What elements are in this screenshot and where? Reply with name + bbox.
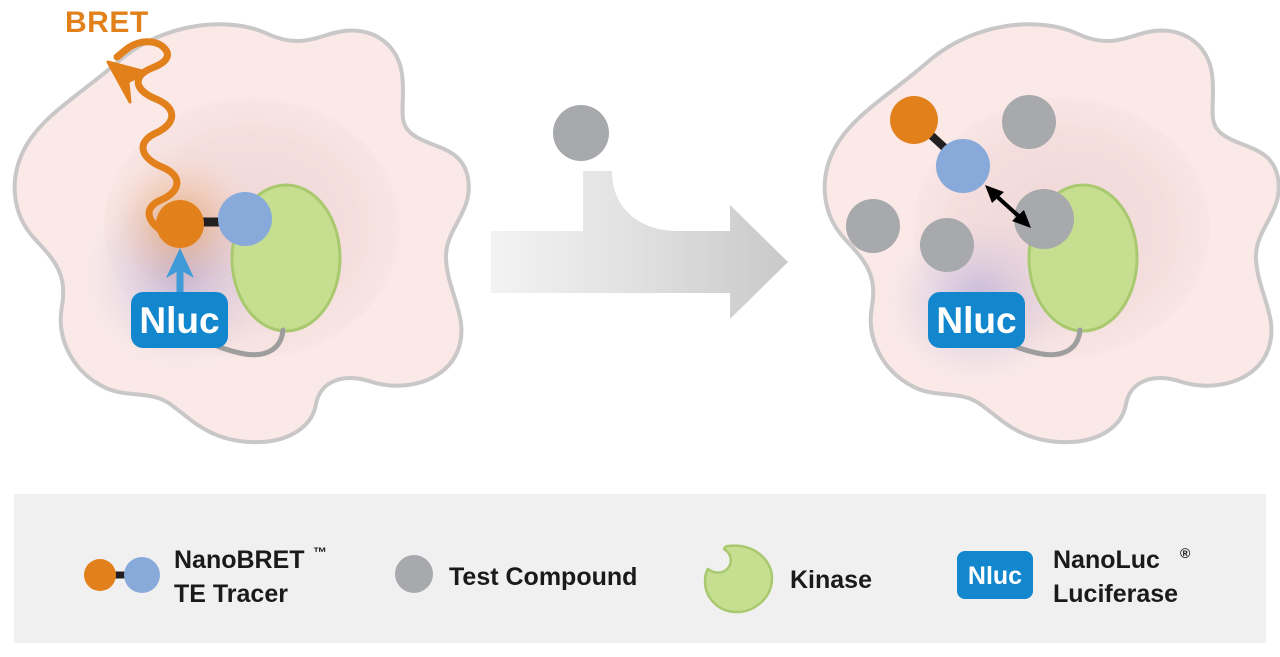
nanoluc-luciferase-box-left: Nluc xyxy=(131,292,228,348)
nluc-box-label: Nluc xyxy=(139,300,219,341)
test-compound-incoming xyxy=(553,105,609,161)
legend-label-line1: NanoBRET xyxy=(174,546,305,574)
legend: NanoBRET ™ TE Tracer Test Compound Kinas… xyxy=(14,494,1266,643)
legend-label-line1: Kinase xyxy=(790,566,872,594)
test-compound-free xyxy=(846,199,900,253)
tracer-acceptor-blue xyxy=(936,139,990,193)
nanobret-assay-diagram: Nluc BRET xyxy=(0,0,1280,657)
nluc-box-label: Nluc xyxy=(936,300,1016,341)
figure-canvas: Nluc BRET xyxy=(0,0,1280,657)
legend-label-line2: Luciferase xyxy=(1053,580,1178,608)
legend-label-registered: ® xyxy=(1180,545,1191,561)
legend-label-line1: NanoLuc xyxy=(1053,546,1160,574)
tracer-acceptor-blue xyxy=(218,192,272,246)
legend-label-line1: Test Compound xyxy=(449,563,637,591)
test-compound-free xyxy=(1002,95,1056,149)
tracer-fluorophore-orange xyxy=(890,96,938,144)
legend-label-line2: TE Tracer xyxy=(174,580,288,608)
bret-label: BRET xyxy=(65,6,149,39)
nluc-chip-icon: Nluc xyxy=(957,551,1033,599)
legend-label-trademark: ™ xyxy=(313,544,327,560)
gray-circle-icon xyxy=(395,555,433,593)
nanoluc-luciferase-box-right: Nluc xyxy=(928,292,1025,348)
test-compound-free xyxy=(920,218,974,272)
nluc-chip-label: Nluc xyxy=(968,562,1022,590)
tracer-fluorophore-orange xyxy=(156,200,204,248)
